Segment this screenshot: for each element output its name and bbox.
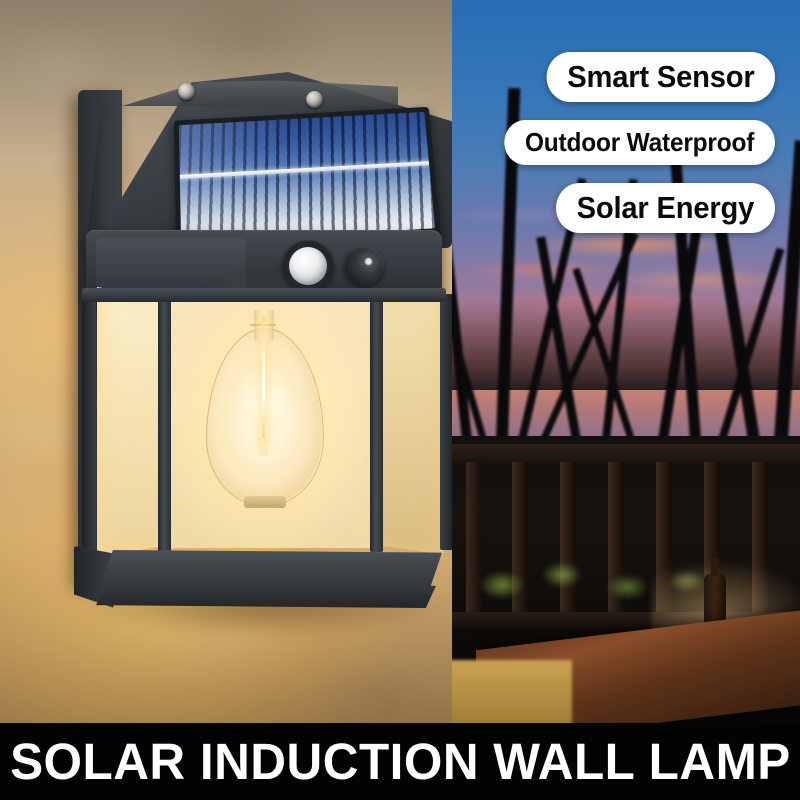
- pir-motion-sensor-icon: [282, 240, 334, 292]
- lantern-frame-post-right: [370, 290, 383, 552]
- solar-panel-gloss: [179, 112, 435, 243]
- solar-panel: [174, 107, 441, 248]
- tray-cast-shadow: [86, 602, 446, 636]
- bottom-banner: SOLAR INDUCTION WALL LAMP: [0, 723, 800, 800]
- left-hero-panel: [0, 0, 452, 723]
- mounting-screw-icon: [178, 83, 195, 100]
- solar-panel-surface: [179, 112, 435, 243]
- bulb-outline: [206, 328, 324, 506]
- product-marketing-image: Smart Sensor Outdoor Waterproof Solar En…: [0, 0, 800, 800]
- banner-headline: SOLAR INDUCTION WALL LAMP: [10, 732, 791, 791]
- lantern-glass-body: [82, 294, 446, 552]
- lantern-frame-outer-right: [440, 294, 452, 550]
- hood-ridge: [98, 80, 398, 106]
- bulb-filament: [262, 316, 265, 444]
- lantern-frame-top: [82, 288, 446, 302]
- table-cloth: [452, 660, 572, 723]
- feature-pill-solar-energy[interactable]: Solar Energy: [556, 183, 775, 233]
- feature-pill-smart-sensor[interactable]: Smart Sensor: [546, 52, 775, 102]
- bulb-base: [244, 496, 286, 508]
- lantern-frame-outer-left: [82, 294, 96, 550]
- railing-top-bar: [452, 444, 800, 464]
- feature-pill-outdoor-waterproof[interactable]: Outdoor Waterproof: [504, 120, 775, 165]
- solar-wall-lamp-product: [72, 72, 452, 632]
- hood-left-edge: [86, 100, 112, 248]
- mounting-screw-icon: [306, 91, 323, 108]
- filament-tip: [258, 438, 268, 456]
- lantern-frame-post-left: [158, 290, 171, 552]
- feature-pill-list: Smart Sensor Outdoor Waterproof Solar En…: [487, 52, 775, 233]
- ambient-light-sensor-icon: [344, 246, 384, 286]
- right-lifestyle-panel: Smart Sensor Outdoor Waterproof Solar En…: [452, 0, 800, 723]
- lamp-base-tray: [66, 544, 452, 642]
- pir-dome: [289, 247, 327, 285]
- foliage-blade: [774, 140, 800, 440]
- sensor-bar-notch: [96, 238, 246, 294]
- edison-bulb: [200, 310, 328, 518]
